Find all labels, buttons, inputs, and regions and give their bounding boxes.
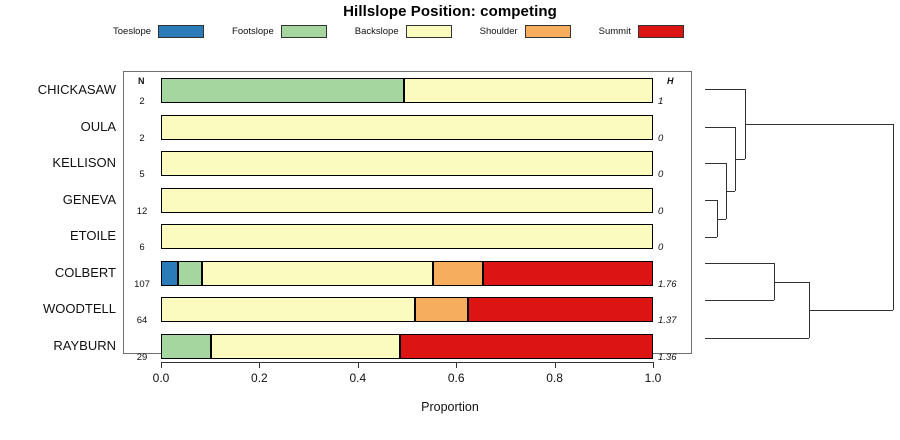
dendrogram (692, 71, 900, 354)
bar-segment-backslope (211, 334, 400, 359)
legend: ToeslopeFootslopeBackslopeShoulderSummit (0, 25, 900, 43)
category-label: GENEVA (0, 192, 116, 207)
legend-swatch (525, 25, 571, 38)
n-value: 6 (126, 242, 158, 253)
category-label: CHICKASAW (0, 82, 116, 97)
legend-item-toeslope: Toeslope (113, 25, 232, 38)
x-tick (555, 362, 556, 368)
h-value: 0 (658, 242, 692, 253)
bar-segment-footslope (178, 261, 203, 286)
x-tick-label: 0.2 (239, 371, 279, 385)
bar-segment-shoulder (433, 261, 483, 286)
category-label: OULA (0, 119, 116, 134)
legend-label: Toeslope (113, 26, 151, 37)
h-value: 1.37 (658, 315, 692, 326)
legend-swatch (406, 25, 452, 38)
stacked-bar (161, 334, 653, 359)
legend-swatch (158, 25, 204, 38)
h-value: 1 (658, 96, 692, 107)
stacked-bar (161, 151, 653, 176)
category-label: KELLISON (0, 155, 116, 170)
n-value: 12 (126, 206, 158, 217)
stacked-bar (161, 297, 653, 322)
x-tick (653, 362, 654, 368)
bar-segment-backslope (161, 297, 415, 322)
dendrogram-link (705, 338, 809, 339)
n-value: 107 (126, 279, 158, 290)
bar-segment-summit (483, 261, 653, 286)
n-value: 2 (126, 96, 158, 107)
x-tick (456, 362, 457, 368)
h-value: 1.76 (658, 279, 692, 290)
legend-swatch (281, 25, 327, 38)
legend-label: Summit (599, 26, 631, 37)
h-value: 1.36 (658, 352, 692, 363)
dendrogram-link (705, 263, 774, 264)
bar-segment-toeslope (161, 261, 178, 286)
dendrogram-link (705, 163, 726, 164)
legend-label: Footslope (232, 26, 274, 37)
x-tick (259, 362, 260, 368)
legend-swatch (638, 25, 684, 38)
x-axis-line (161, 362, 653, 363)
legend-item-shoulder: Shoulder (480, 25, 599, 38)
chart-root: Hillslope Position: competing ToeslopeFo… (0, 0, 900, 440)
bar-segment-backslope (161, 188, 653, 213)
x-tick-label: 0.8 (535, 371, 575, 385)
bar-segment-summit (400, 334, 653, 359)
n-value: 5 (126, 169, 158, 180)
chart-title: Hillslope Position: competing (0, 3, 900, 20)
category-label: COLBERT (0, 265, 116, 280)
stacked-bar (161, 188, 653, 213)
bar-segment-backslope (202, 261, 433, 286)
bar-segment-backslope (404, 78, 653, 103)
n-value: 2 (126, 133, 158, 144)
dendrogram-link (705, 200, 717, 201)
dendrogram-link (774, 282, 809, 283)
x-tick-label: 1.0 (633, 371, 673, 385)
legend-item-summit: Summit (599, 25, 684, 38)
bar-segment-footslope (161, 334, 211, 359)
dendrogram-link (705, 237, 717, 238)
stacked-bar (161, 78, 653, 103)
legend-label: Shoulder (480, 26, 518, 37)
dendrogram-link (726, 191, 735, 192)
h-value: 0 (658, 206, 692, 217)
dendrogram-link (705, 89, 745, 90)
stacked-bar (161, 261, 653, 286)
legend-item-footslope: Footslope (232, 25, 355, 38)
stacked-bar (161, 115, 653, 140)
bar-segment-summit (468, 297, 653, 322)
category-label: WOODTELL (0, 301, 116, 316)
h-column-header: H (667, 76, 674, 86)
bar-segment-backslope (161, 115, 653, 140)
bar-segment-footslope (161, 78, 404, 103)
dendrogram-link (705, 127, 735, 128)
category-label: ETOILE (0, 228, 116, 243)
legend-label: Backslope (355, 26, 399, 37)
x-axis-label: Proportion (0, 400, 900, 414)
bar-segment-backslope (161, 151, 653, 176)
stacked-bar (161, 224, 653, 249)
x-tick (161, 362, 162, 368)
dendrogram-link (735, 159, 745, 160)
dendrogram-link (745, 124, 893, 125)
legend-item-backslope: Backslope (355, 25, 480, 38)
dendrogram-link (893, 124, 894, 310)
dendrogram-link (705, 300, 774, 301)
x-tick (358, 362, 359, 368)
x-tick-label: 0.4 (338, 371, 378, 385)
x-tick-label: 0.6 (436, 371, 476, 385)
n-value: 29 (126, 352, 158, 363)
h-value: 0 (658, 169, 692, 180)
bar-segment-backslope (161, 224, 653, 249)
n-value: 64 (126, 315, 158, 326)
dendrogram-link (717, 219, 726, 220)
dendrogram-link (809, 310, 893, 311)
n-column-header: N (138, 76, 145, 86)
h-value: 0 (658, 133, 692, 144)
category-label: RAYBURN (0, 338, 116, 353)
bar-segment-shoulder (415, 297, 468, 322)
x-tick-label: 0.0 (141, 371, 181, 385)
